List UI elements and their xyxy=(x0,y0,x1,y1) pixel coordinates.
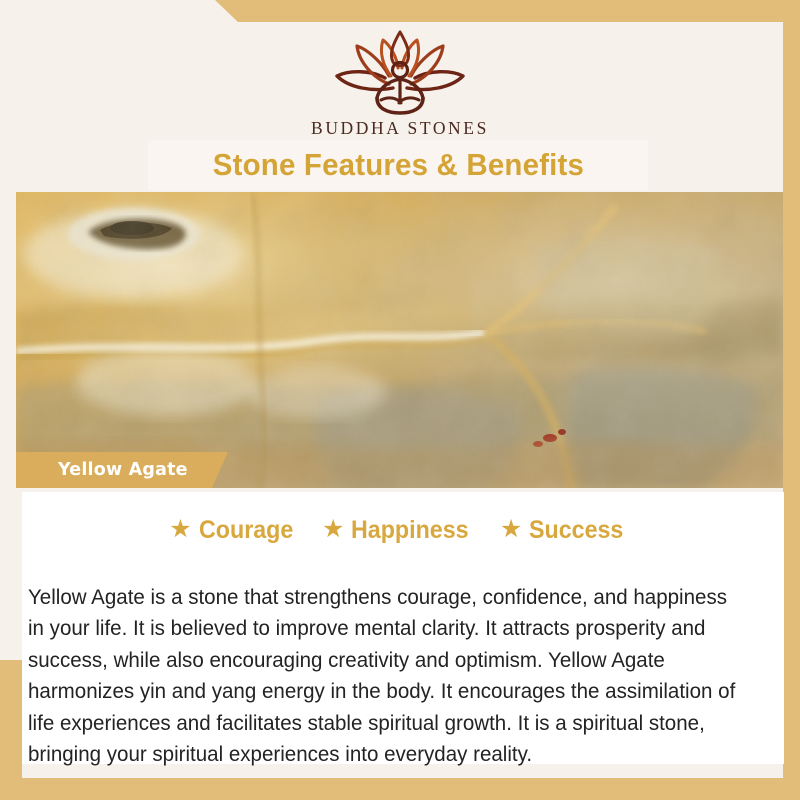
star-icon: ★ xyxy=(169,517,191,542)
stone-features-infographic: BUDDHA STONES Stone Features & Benefits xyxy=(0,0,800,800)
keyword-label: Success xyxy=(529,516,623,545)
keyword-item-success: ★ Success xyxy=(500,516,631,545)
stone-name-badge: Yellow Agate xyxy=(16,452,228,488)
brand-block: BUDDHA STONES xyxy=(0,26,800,139)
content-stack: BUDDHA STONES Stone Features & Benefits xyxy=(0,0,800,800)
keyword-row: ★ Courage ★ Happiness ★ Success xyxy=(0,516,800,545)
keyword-item-courage: ★ Courage xyxy=(169,516,300,545)
lotus-meditation-figure-icon xyxy=(315,26,485,116)
stone-name-label: Yellow Agate xyxy=(58,460,188,480)
page-title: Stone Features & Benefits xyxy=(212,147,583,183)
keyword-label: Happiness xyxy=(351,516,469,545)
keyword-label: Courage xyxy=(199,516,293,545)
title-banner: Stone Features & Benefits xyxy=(148,140,648,190)
yellow-agate-slab-photo xyxy=(16,192,783,488)
agate-texture-illustration xyxy=(16,192,783,488)
keyword-item-happiness: ★ Happiness xyxy=(322,516,478,545)
star-icon: ★ xyxy=(322,517,344,542)
stone-description: Yellow Agate is a stone that strengthens… xyxy=(28,582,742,771)
star-icon: ★ xyxy=(500,517,522,542)
brand-name: BUDDHA STONES xyxy=(0,118,800,139)
